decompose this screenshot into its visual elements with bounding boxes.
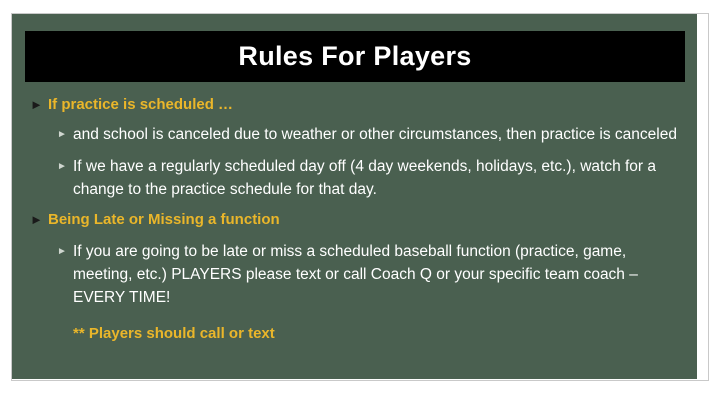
slide-body: ► If practice is scheduled … ► and schoo… [12, 94, 697, 344]
bullet-triangle-icon: ► [57, 155, 73, 178]
section-heading-label: If practice is scheduled … [48, 94, 233, 115]
spacer [12, 201, 697, 209]
section-heading-being-late-or-missing-a-function: ► Being Late or Missing a function [12, 209, 697, 230]
bullet-triangle-icon: ► [30, 94, 48, 115]
bullet-triangle-icon: ► [30, 209, 48, 230]
section-heading-if-practice-is-scheduled: ► If practice is scheduled … [12, 94, 697, 115]
slide-title-band: Rules For Players [25, 31, 685, 82]
page-title: Rules For Players [238, 43, 471, 70]
list-item: ► and school is canceled due to weather … [12, 123, 697, 146]
players-note: ** Players should call or text [12, 323, 697, 344]
presentation-slide: Rules For Players ► If practice is sched… [12, 14, 697, 379]
list-item-label: and school is canceled due to weather or… [73, 123, 677, 146]
section-heading-label: Being Late or Missing a function [48, 209, 280, 230]
spacer [12, 116, 697, 123]
list-item-label: If you are going to be late or miss a sc… [73, 240, 689, 309]
spacer [12, 309, 697, 323]
players-note-label: ** Players should call or text [73, 323, 275, 344]
list-item: ► If you are going to be late or miss a … [12, 240, 697, 309]
spacer [12, 231, 697, 240]
list-item-label: If we have a regularly scheduled day off… [73, 155, 689, 201]
bullet-triangle-icon: ► [57, 123, 73, 146]
list-item: ► If we have a regularly scheduled day o… [12, 155, 697, 201]
spacer [12, 146, 697, 155]
bullet-triangle-icon: ► [57, 240, 73, 263]
